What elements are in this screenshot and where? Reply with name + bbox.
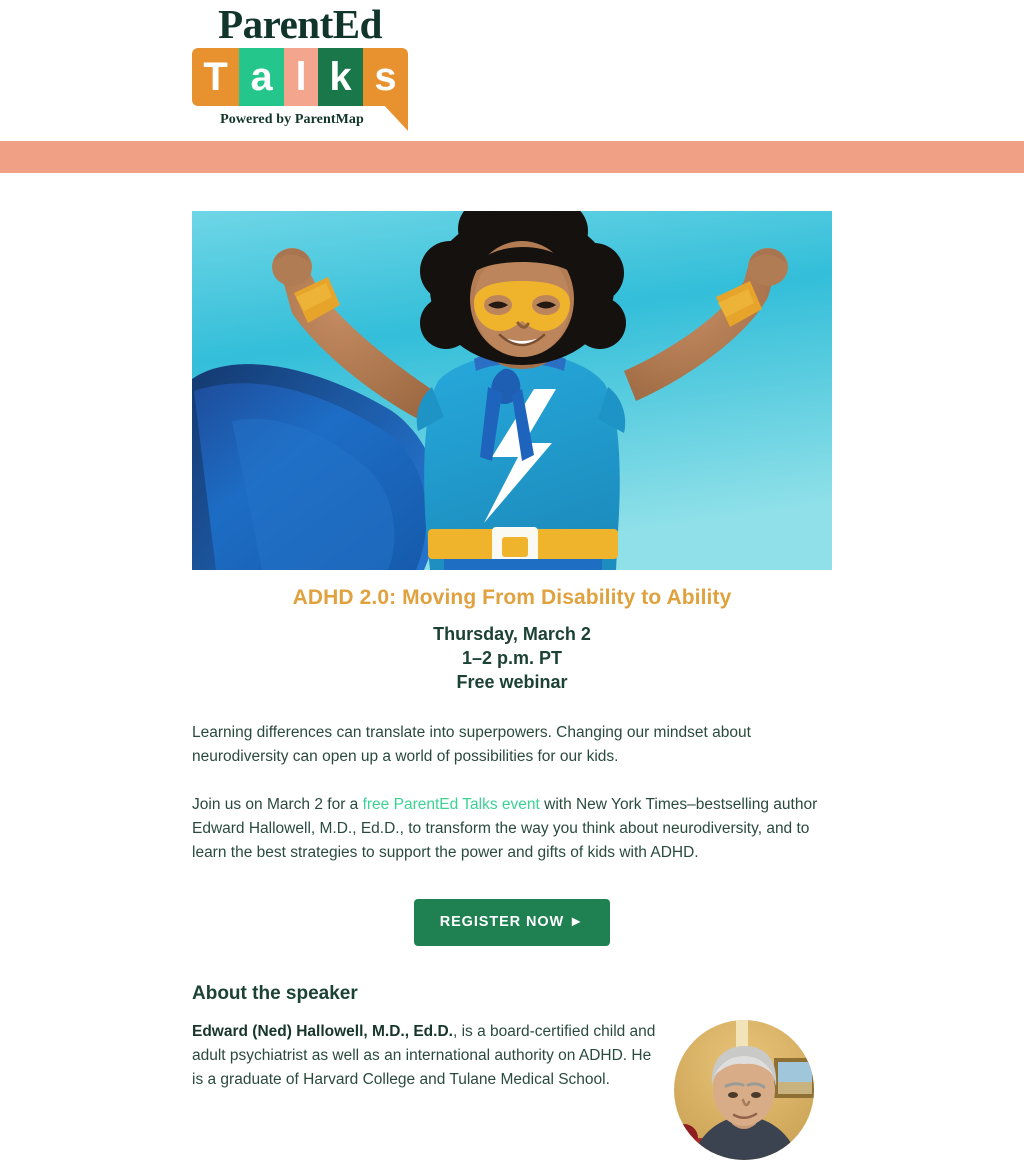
cta-row: REGISTER NOW ► [192,899,832,946]
free-event-link[interactable]: free ParentEd Talks event [363,796,540,813]
about-speaker-heading: About the speaker [192,982,832,1006]
logo-tile-k: k [318,48,363,106]
logo-wordmark-parented: ParentEd [192,2,408,46]
logo-tile-l: l [284,48,318,106]
logo-tile-s: s [363,48,408,106]
parented-talks-logo[interactable]: ParentEd T a l k s [192,2,408,106]
logo-powered-by-tagline: Powered by ParentMap [192,112,392,128]
page-header: ParentEd T a l k s Powered by ParentMap [0,0,1024,141]
event-date: Thursday, March 2 [192,622,832,646]
logo-tile-t: T [192,48,239,106]
logo-tile-a: a [239,48,284,106]
accent-divider-band [0,141,1024,173]
logo-wordmark-talks: T a l k s [192,48,408,106]
speaker-name: Edward (Ned) Hallowell, M.D., Ed.D. [192,1023,453,1040]
invite-text-pre: Join us on March 2 for a [192,796,363,813]
event-title: ADHD 2.0: Moving From Disability to Abil… [192,584,832,612]
intro-paragraph: Learning differences can translate into … [192,721,832,769]
hero-image [192,211,832,570]
event-details: Thursday, March 2 1–2 p.m. PT Free webin… [192,622,832,694]
speaker-block: Edward (Ned) Hallowell, M.D., Ed.D., is … [192,1020,832,1160]
speaker-avatar [674,1020,814,1160]
invite-paragraph: Join us on March 2 for a free ParentEd T… [192,793,832,865]
speaker-bio: Edward (Ned) Hallowell, M.D., Ed.D., is … [192,1020,658,1092]
email-body: ADHD 2.0: Moving From Disability to Abil… [192,211,832,1160]
register-now-button[interactable]: REGISTER NOW ► [414,899,611,946]
event-time: 1–2 p.m. PT [192,646,832,670]
event-price: Free webinar [192,670,832,694]
